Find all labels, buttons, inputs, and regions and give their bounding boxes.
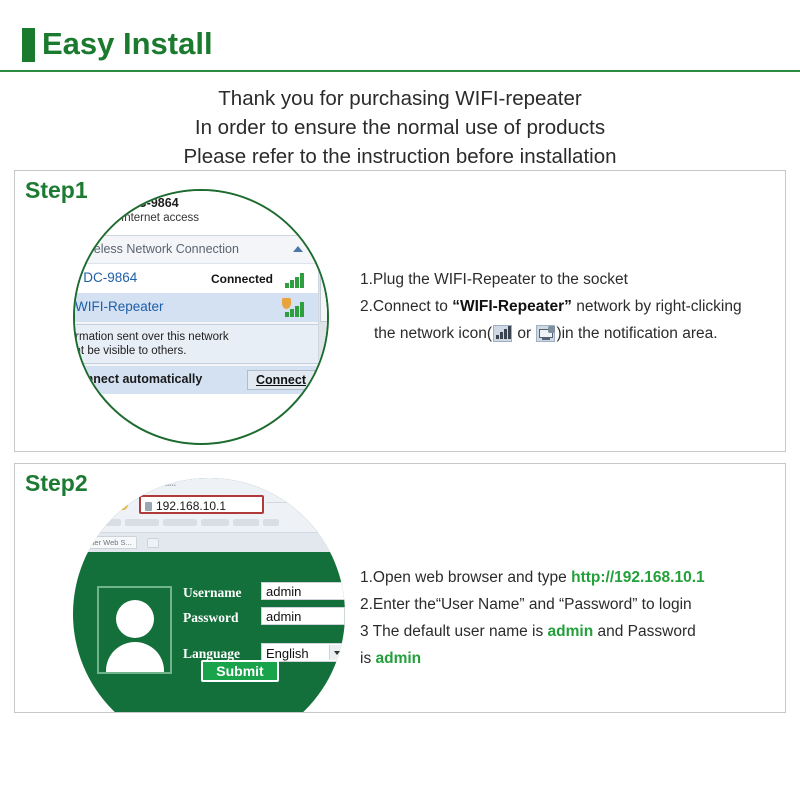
intro-text: Thank you for purchasing WIFI-repeater I… <box>0 84 800 171</box>
line2-part-b: network by right-clicking <box>572 298 742 315</box>
header-accent-bar <box>22 28 35 62</box>
browser-titlebar-text: ••••• <box>165 483 176 489</box>
signal-bars-icon <box>493 325 512 342</box>
step2-instruction-line-4: is admin <box>360 645 780 672</box>
panel-scrollbar[interactable] <box>318 264 329 360</box>
step1-label: Step1 <box>25 177 88 204</box>
browser-tab[interactable]: eater Web S... <box>79 536 137 549</box>
line3-or: or <box>513 325 535 342</box>
wifi-tooltip-icon <box>97 205 115 221</box>
router-url: http://192.168.10.1 <box>571 569 705 586</box>
submit-button[interactable]: Submit <box>201 660 279 682</box>
line3-part-a: the network icon( <box>374 325 492 342</box>
password-label: Password <box>183 610 257 626</box>
s2-line3-part-a: 3 The default user name is <box>360 623 548 640</box>
default-username: admin <box>548 623 594 640</box>
step2-panel: Step2 ••••• 192.168.10.1 eater Web S... <box>14 463 786 713</box>
username-value: admin <box>266 584 301 600</box>
wireless-panel-title: Wireless Network Connection <box>75 242 239 256</box>
wifi-flyout-screenshot: TDC-9864 Internet access Wireless Networ… <box>73 191 329 394</box>
intro-line-1: Thank you for purchasing WIFI-repeater <box>0 84 800 113</box>
network-monitor-icon <box>536 325 555 342</box>
avatar-head-shape <box>116 600 154 638</box>
step1-panel: Step1 TDC-9864 Internet access Wireless … <box>14 170 786 452</box>
line2-part-a: 2.Connect to <box>360 298 452 315</box>
address-bar-url: 192.168.10.1 <box>156 499 226 514</box>
signal-bars-icon <box>285 301 307 317</box>
step2-instruction-line-1: 1.Open web browser and type http://192.1… <box>360 564 780 591</box>
browser-chrome-screenshot: ••••• 192.168.10.1 eater Web S... <box>73 478 345 552</box>
step2-instruction-line-3: 3 The default user name is admin and Pas… <box>360 618 780 645</box>
password-input[interactable]: admin <box>261 607 345 625</box>
login-form: Username admin Password admin Language E… <box>183 582 343 668</box>
browser-tabbar: eater Web S... <box>73 532 345 552</box>
step1-instruction-line-2: 2.Connect to “WIFI-Repeater” network by … <box>360 293 780 320</box>
network-row-tdc[interactable]: TDC-9864 Connected <box>73 264 329 293</box>
s2-line3-part-b: and Password <box>593 623 696 640</box>
intro-line-2: In order to ensure the normal use of pro… <box>0 113 800 142</box>
browser-toolbar <box>99 518 329 528</box>
network-tooltip: TDC-9864 Internet access <box>73 191 329 235</box>
connect-row: Connect automatically Connect <box>73 366 329 394</box>
s2-line1-part-a: 1.Open web browser and type <box>360 569 571 586</box>
warning-line-1: Information sent over this network <box>73 330 312 344</box>
page-favicon <box>145 502 152 511</box>
network-status: Connected <box>211 272 273 286</box>
password-row: Password admin <box>183 607 343 629</box>
username-row: Username admin <box>183 582 343 604</box>
step1-instruction-line-1: 1.Plug the WIFI-Repeater to the socket <box>360 266 780 293</box>
line2-network-name: “WIFI-Repeater” <box>452 298 572 315</box>
signal-bars-icon <box>285 272 307 288</box>
wireless-network-panel: Wireless Network Connection TDC-9864 Con… <box>73 235 329 394</box>
tooltip-subtitle: Internet access <box>121 211 329 226</box>
tooltip-network-name: TDC-9864 <box>121 195 329 211</box>
step1-instructions: 1.Plug the WIFI-Repeater to the socket 2… <box>360 266 780 347</box>
wireless-panel-header[interactable]: Wireless Network Connection <box>73 236 329 264</box>
username-input[interactable]: admin <box>261 582 345 600</box>
page-title: Easy Install <box>42 24 213 64</box>
warning-line-2: might be visible to others. <box>73 344 312 358</box>
network-warning-box: Information sent over this network might… <box>73 324 321 364</box>
step2-screenshot-circle: ••••• 192.168.10.1 eater Web S... <box>73 478 345 713</box>
chevron-up-icon[interactable] <box>293 246 303 252</box>
step1-screenshot-circle: TDC-9864 Internet access Wireless Networ… <box>73 189 329 445</box>
page-header: Easy Install <box>0 24 800 72</box>
step2-instruction-line-2: 2.Enter the“User Name” and “Password” to… <box>360 591 780 618</box>
connect-button[interactable]: Connect <box>247 370 315 390</box>
network-name: WIFI-Repeater <box>75 299 164 314</box>
intro-line-3: Please refer to the instruction before i… <box>0 142 800 171</box>
avatar-body-shape <box>106 642 164 674</box>
step2-instructions: 1.Open web browser and type http://192.1… <box>360 564 780 672</box>
new-tab-button[interactable] <box>147 538 159 548</box>
submit-button-label: Submit <box>203 662 277 680</box>
easy-install-page: Easy Install Thank you for purchasing WI… <box>0 0 800 800</box>
avatar <box>97 586 172 674</box>
step2-label: Step2 <box>25 470 88 497</box>
password-value: admin <box>266 609 301 625</box>
network-name: TDC-9864 <box>75 270 137 285</box>
network-row-wifi-repeater[interactable]: WIFI-Repeater <box>73 293 329 322</box>
address-bar[interactable]: 192.168.10.1 <box>139 495 264 514</box>
username-label: Username <box>183 585 257 601</box>
chevron-down-icon[interactable] <box>329 645 343 660</box>
line3-part-b: )in the notification area. <box>556 325 717 342</box>
step1-instruction-line-3: the network icon( or )in the notificatio… <box>360 320 780 347</box>
default-password: admin <box>376 650 422 667</box>
header-divider <box>0 70 800 72</box>
connect-automatically-label: Connect automatically <box>73 372 202 386</box>
address-bar-remainder <box>266 502 336 503</box>
s2-line4-part-a: is <box>360 650 376 667</box>
browser-logo-icon <box>117 499 128 510</box>
